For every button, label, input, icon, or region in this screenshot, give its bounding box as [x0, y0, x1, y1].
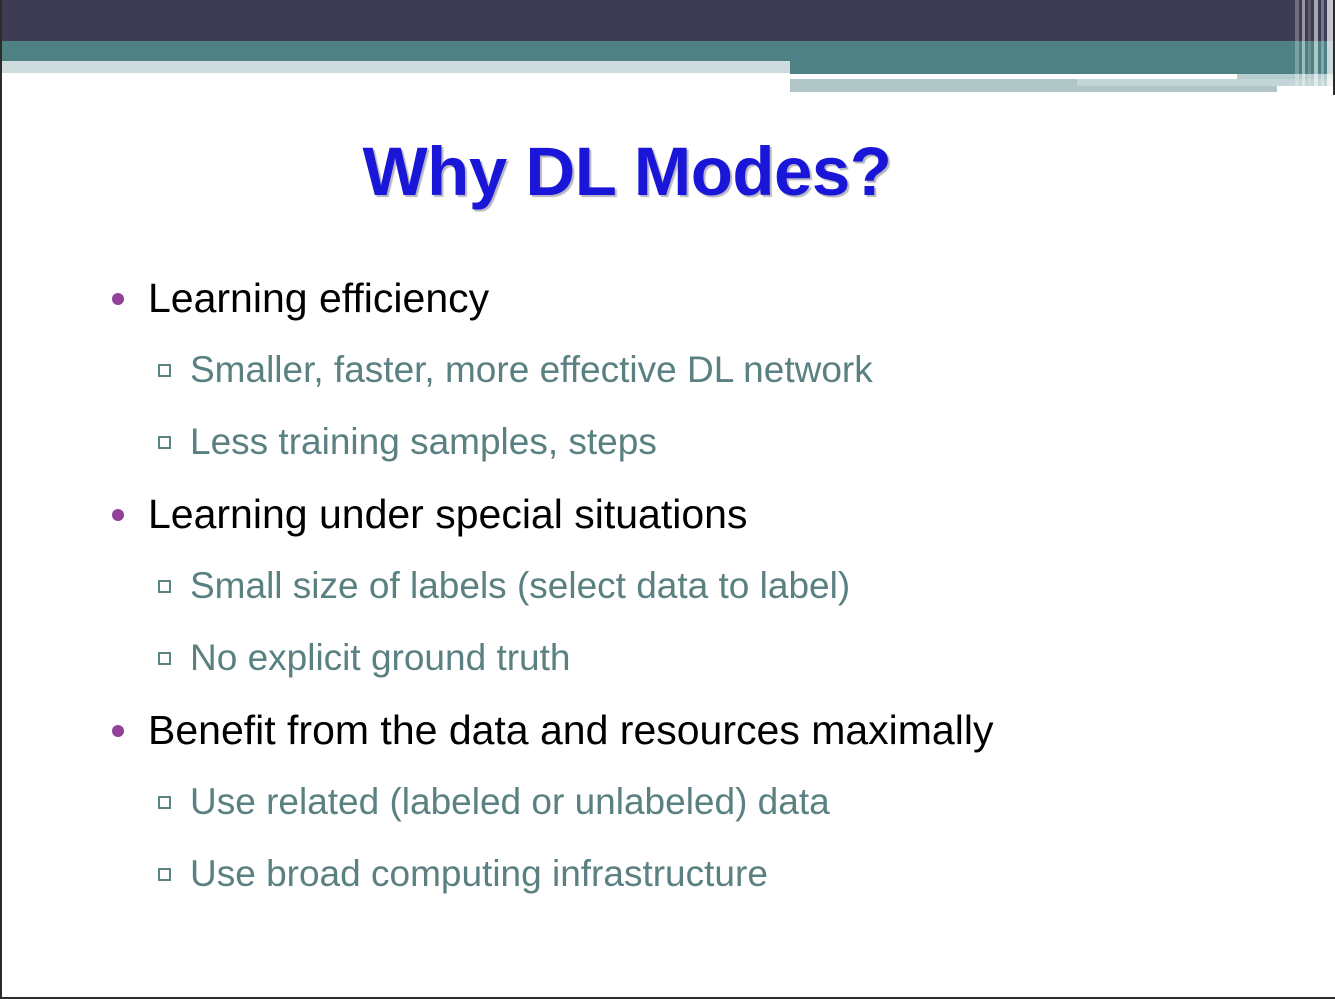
bullet-level2-label: Small size of labels (select data to lab…: [190, 565, 850, 606]
bullet-level2-label: Use related (labeled or unlabeled) data: [190, 781, 830, 822]
header-band-pale-left: [2, 61, 790, 73]
bullet-dot-icon: [112, 293, 124, 305]
header-stripe-5: [1321, 0, 1324, 95]
bullet-level1: Benefit from the data and resources maxi…: [2, 694, 1335, 766]
slide-header-decoration: [2, 0, 1335, 95]
bullet-group: Learning efficiency Smaller, faster, mor…: [2, 262, 1335, 478]
bullet-square-icon: [158, 436, 171, 449]
bullet-level2: Use related (labeled or unlabeled) data: [2, 766, 1335, 838]
bullet-level2-label: Less training samples, steps: [190, 421, 657, 462]
bullet-level2-label: Use broad computing infrastructure: [190, 853, 768, 894]
bullet-square-icon: [158, 364, 171, 377]
bullet-dot-icon: [112, 509, 124, 521]
bullet-level1-label: Learning efficiency: [148, 275, 489, 321]
header-stripe-1: [1295, 0, 1299, 95]
bullet-square-icon: [158, 868, 171, 881]
bullet-level1: Learning under special situations: [2, 478, 1335, 550]
bullet-group: Learning under special situations Small …: [2, 478, 1335, 694]
header-stripe-2: [1302, 0, 1305, 95]
bullet-level1-label: Learning under special situations: [148, 491, 747, 537]
bullet-group: Benefit from the data and resources maxi…: [2, 694, 1335, 910]
header-band-teal-right: [790, 41, 1335, 74]
bullet-level2: Small size of labels (select data to lab…: [2, 550, 1335, 622]
bullet-level2: Smaller, faster, more effective DL netwo…: [2, 334, 1335, 406]
bullet-level2-label: No explicit ground truth: [190, 637, 570, 678]
bullet-level1-label: Benefit from the data and resources maxi…: [148, 707, 993, 753]
slide-body: Learning efficiency Smaller, faster, mor…: [2, 262, 1335, 910]
header-band-navy: [2, 0, 1335, 41]
presentation-slide: Why DL Modes? Learning efficiency Smalle…: [0, 0, 1335, 999]
bullet-level1: Learning efficiency: [2, 262, 1335, 334]
bullet-level2-label: Smaller, faster, more effective DL netwo…: [190, 349, 873, 390]
bullet-dot-icon: [112, 725, 124, 737]
bullet-square-icon: [158, 580, 171, 593]
bullet-level2: Use broad computing infrastructure: [2, 838, 1335, 910]
bullet-level2: No explicit ground truth: [2, 622, 1335, 694]
bullet-square-icon: [158, 652, 171, 665]
header-stripe-4: [1314, 0, 1318, 95]
slide-title: Why DL Modes?: [2, 132, 1252, 211]
bullet-level2: Less training samples, steps: [2, 406, 1335, 478]
bullet-square-icon: [158, 796, 171, 809]
header-stripe-3: [1308, 0, 1311, 95]
